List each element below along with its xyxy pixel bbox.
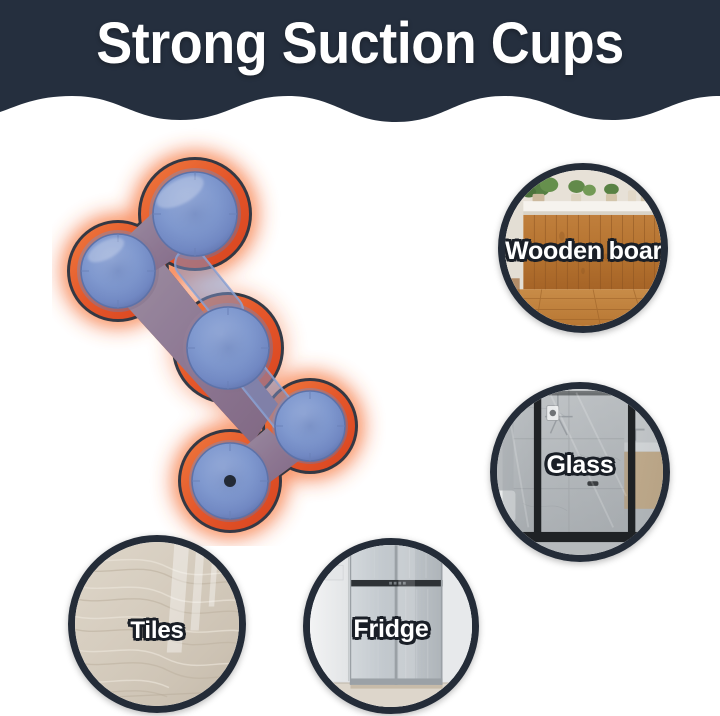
page-title: Strong Suction Cups xyxy=(25,8,695,80)
header-banner: Strong Suction Cups xyxy=(0,0,720,128)
suction-cup-mount-graphic xyxy=(52,126,412,546)
surface-label-glass: Glass xyxy=(497,451,663,479)
cup-bottom-right xyxy=(275,391,345,461)
surface-circle-tiles[interactable]: Tiles xyxy=(68,535,246,713)
product-image xyxy=(52,126,412,546)
surface-circle-fridge[interactable]: Fridge xyxy=(303,538,479,714)
cup-center xyxy=(187,307,269,389)
surface-label-fridge: Fridge xyxy=(310,615,472,643)
surface-label-wooden-board: Wooden board xyxy=(505,237,661,265)
cup-center-valve-dot xyxy=(224,475,236,487)
surface-circle-wooden-board[interactable]: Wooden board xyxy=(498,163,668,333)
surface-circle-glass[interactable]: Glass xyxy=(490,382,670,562)
cup-bottom-left xyxy=(192,443,268,519)
surface-label-tiles: Tiles xyxy=(75,617,239,645)
product-infographic: Strong Suction Cups xyxy=(0,0,720,716)
